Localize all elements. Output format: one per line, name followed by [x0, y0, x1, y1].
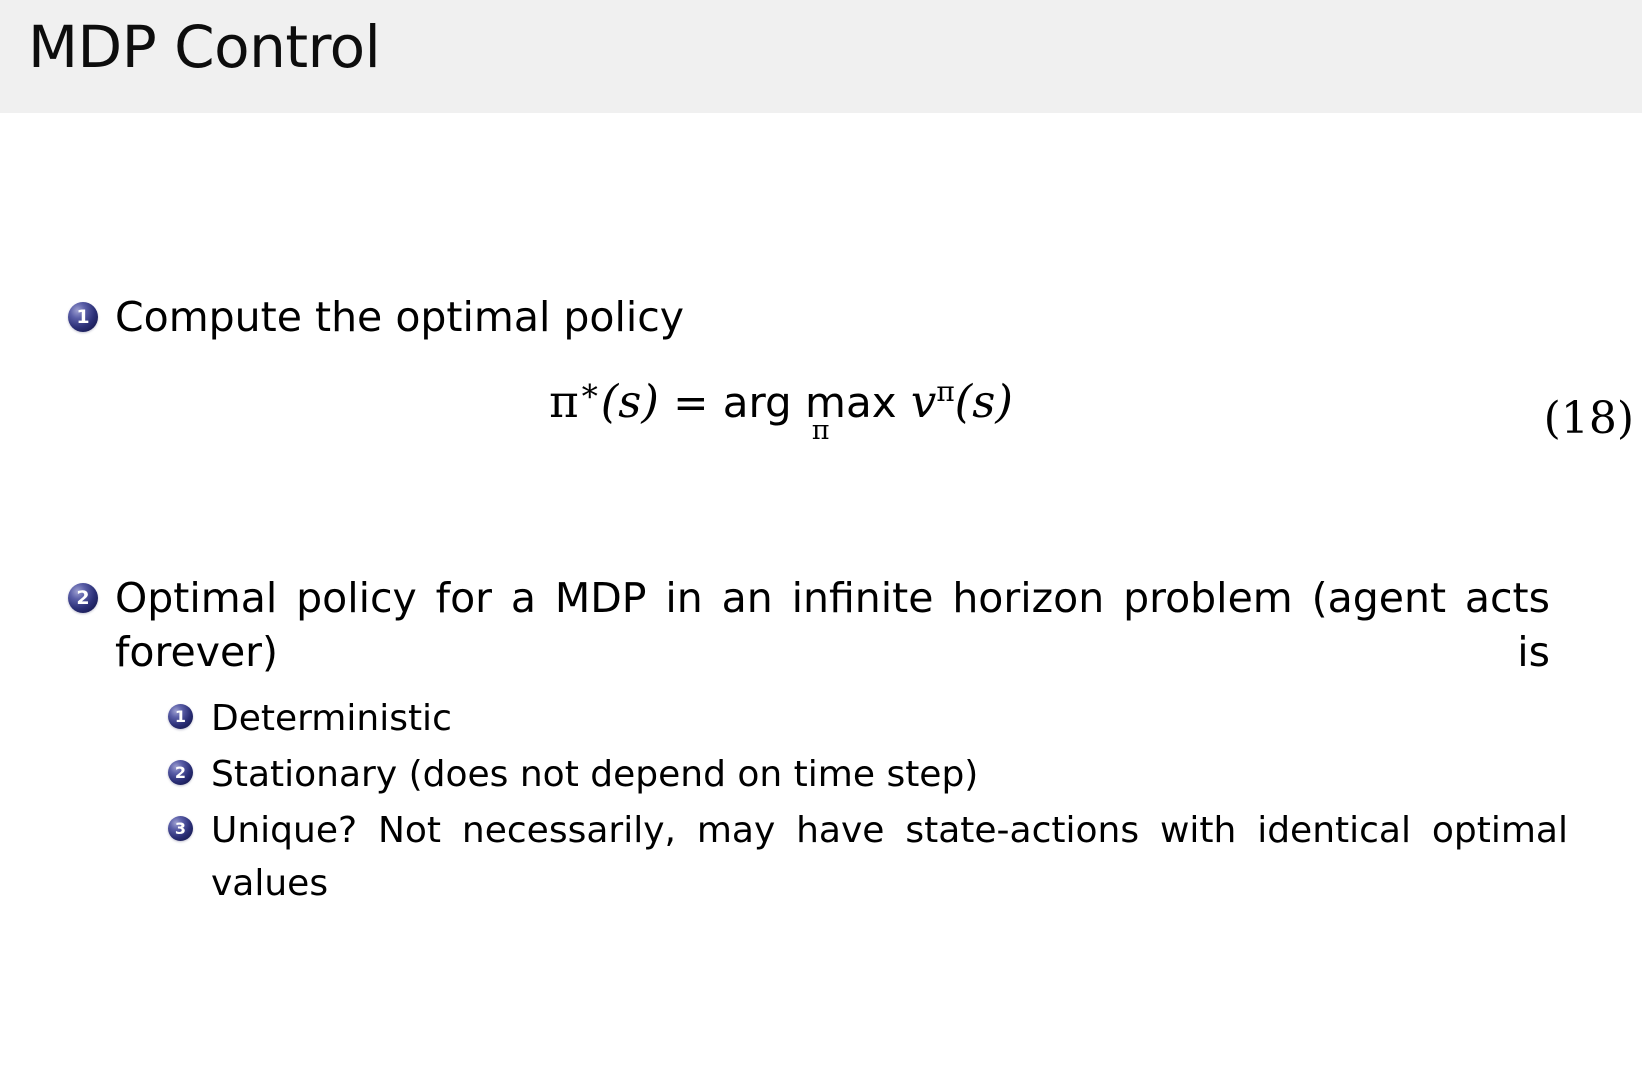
bullet-number-icon: 1: [168, 704, 193, 729]
bullet-number-icon: 2: [68, 583, 98, 613]
equation-state-variable-2: s: [972, 375, 995, 428]
sublist-item-stationary: 2 Stationary (does not depend on time st…: [168, 749, 1568, 801]
slide-body: 1 Compute the optimal policy π∗(s) = arg…: [0, 113, 1642, 1080]
equation-close-paren: ): [641, 375, 659, 428]
bullet-number-icon: 1: [68, 302, 98, 332]
equation-row: π∗(s) = arg max π vπ(s) (18): [0, 375, 1642, 495]
equation-argmax-subscript: π: [745, 415, 897, 446]
sublist-item-unique: 3 Unique? Not necessarily, may have stat…: [168, 805, 1568, 962]
sublist-policy-properties: 1 Deterministic 2 Stationary (does not d…: [168, 693, 1568, 966]
sublist-item-label: Unique? Not necessarily, may have state-…: [211, 805, 1568, 962]
equation-argmax-operator: arg max π: [723, 375, 897, 428]
equation-pi-symbol: π: [549, 375, 579, 428]
list-item-label: Compute the optimal policy: [115, 290, 684, 344]
page-title: MDP Control: [28, 18, 380, 76]
equation-star-symbol: ∗: [579, 371, 601, 409]
sublist-item-deterministic: 1 Deterministic: [168, 693, 1568, 745]
equation-close-paren-2: ): [995, 375, 1013, 428]
equation-state-variable: s: [618, 375, 641, 428]
slide-header: MDP Control: [0, 0, 1642, 113]
sublist-item-label: Deterministic: [211, 693, 452, 745]
bullet-number-icon: 2: [168, 760, 193, 785]
sublist-item-label: Stationary (does not depend on time step…: [211, 749, 978, 801]
equation-value-superscript: π: [936, 375, 954, 408]
equation-number: (18): [1544, 393, 1634, 444]
bullet-number-icon: 3: [168, 816, 193, 841]
equation-optimal-policy: π∗(s) = arg max π vπ(s): [0, 375, 1642, 428]
equation-open-paren-2: (: [955, 375, 973, 428]
list-item-compute-policy: 1 Compute the optimal policy: [68, 290, 1468, 344]
equation-value-function: v: [911, 375, 936, 428]
equation-expression: π∗(s) = arg max π vπ(s): [549, 375, 1013, 428]
equation-equals-sign: =: [673, 378, 708, 427]
equation-open-paren: (: [601, 375, 619, 428]
